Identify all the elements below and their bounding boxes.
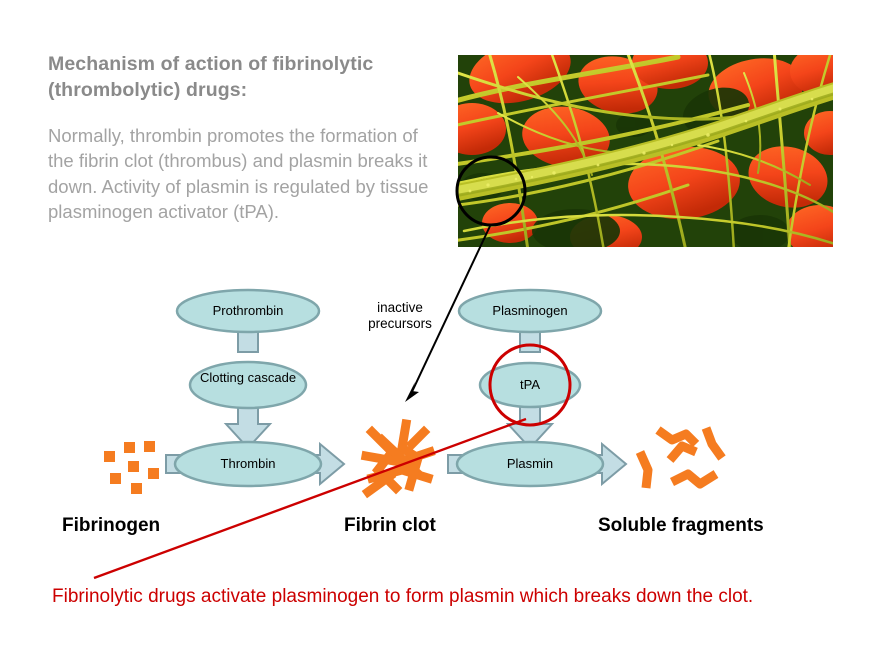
arrow-fibrinogen-to-clot xyxy=(166,444,344,484)
arrow-tpa-to-plasmin xyxy=(508,392,552,448)
summary-caption: Fibrinolytic drugs activate plasminogen … xyxy=(52,586,753,608)
node-clotting-cascade xyxy=(190,362,306,408)
node-tpa xyxy=(480,363,580,407)
soluble-fragments-icon xyxy=(640,428,722,488)
node-thrombin xyxy=(175,442,321,486)
page-title: Mechanism of action of fibrinolytic (thr… xyxy=(48,52,448,103)
arrow-prothrombin-to-cascade xyxy=(238,318,258,352)
bottom-label-soluble-fragments: Soluble fragments xyxy=(598,515,764,537)
fibrinogen-molecules-icon xyxy=(104,441,159,494)
fibrin-clot-icon xyxy=(366,424,430,492)
node-plasminogen xyxy=(459,290,601,332)
fibrin-clot-micrograph xyxy=(458,55,833,247)
node-plasmin xyxy=(457,442,603,486)
inactive-precursors-note: inactive precursors xyxy=(340,300,460,332)
node-prothrombin xyxy=(177,290,319,332)
caption-pointer-line xyxy=(94,419,526,578)
slide-canvas: Mechanism of action of fibrinolytic (thr… xyxy=(0,0,887,662)
arrow-clot-to-fragments xyxy=(448,444,626,484)
node-label-prothrombin: Prothrombin xyxy=(177,304,319,319)
node-label-plasmin: Plasmin xyxy=(457,457,603,472)
tpa-highlight-circle xyxy=(490,345,570,425)
node-label-tpa: tPA xyxy=(480,378,580,393)
node-label-thrombin: Thrombin xyxy=(175,457,321,472)
bottom-label-fibrin-clot: Fibrin clot xyxy=(344,515,436,537)
intro-paragraph: Normally, thrombin promotes the formatio… xyxy=(48,123,448,224)
node-label-plasminogen: Plasminogen xyxy=(459,304,601,319)
arrow-plasminogen-to-tpa xyxy=(520,318,540,352)
arrow-cascade-to-thrombin xyxy=(226,392,270,448)
bottom-label-fibrinogen: Fibrinogen xyxy=(62,515,160,537)
node-label-clotting-cascade: Clotting cascade xyxy=(190,371,306,386)
